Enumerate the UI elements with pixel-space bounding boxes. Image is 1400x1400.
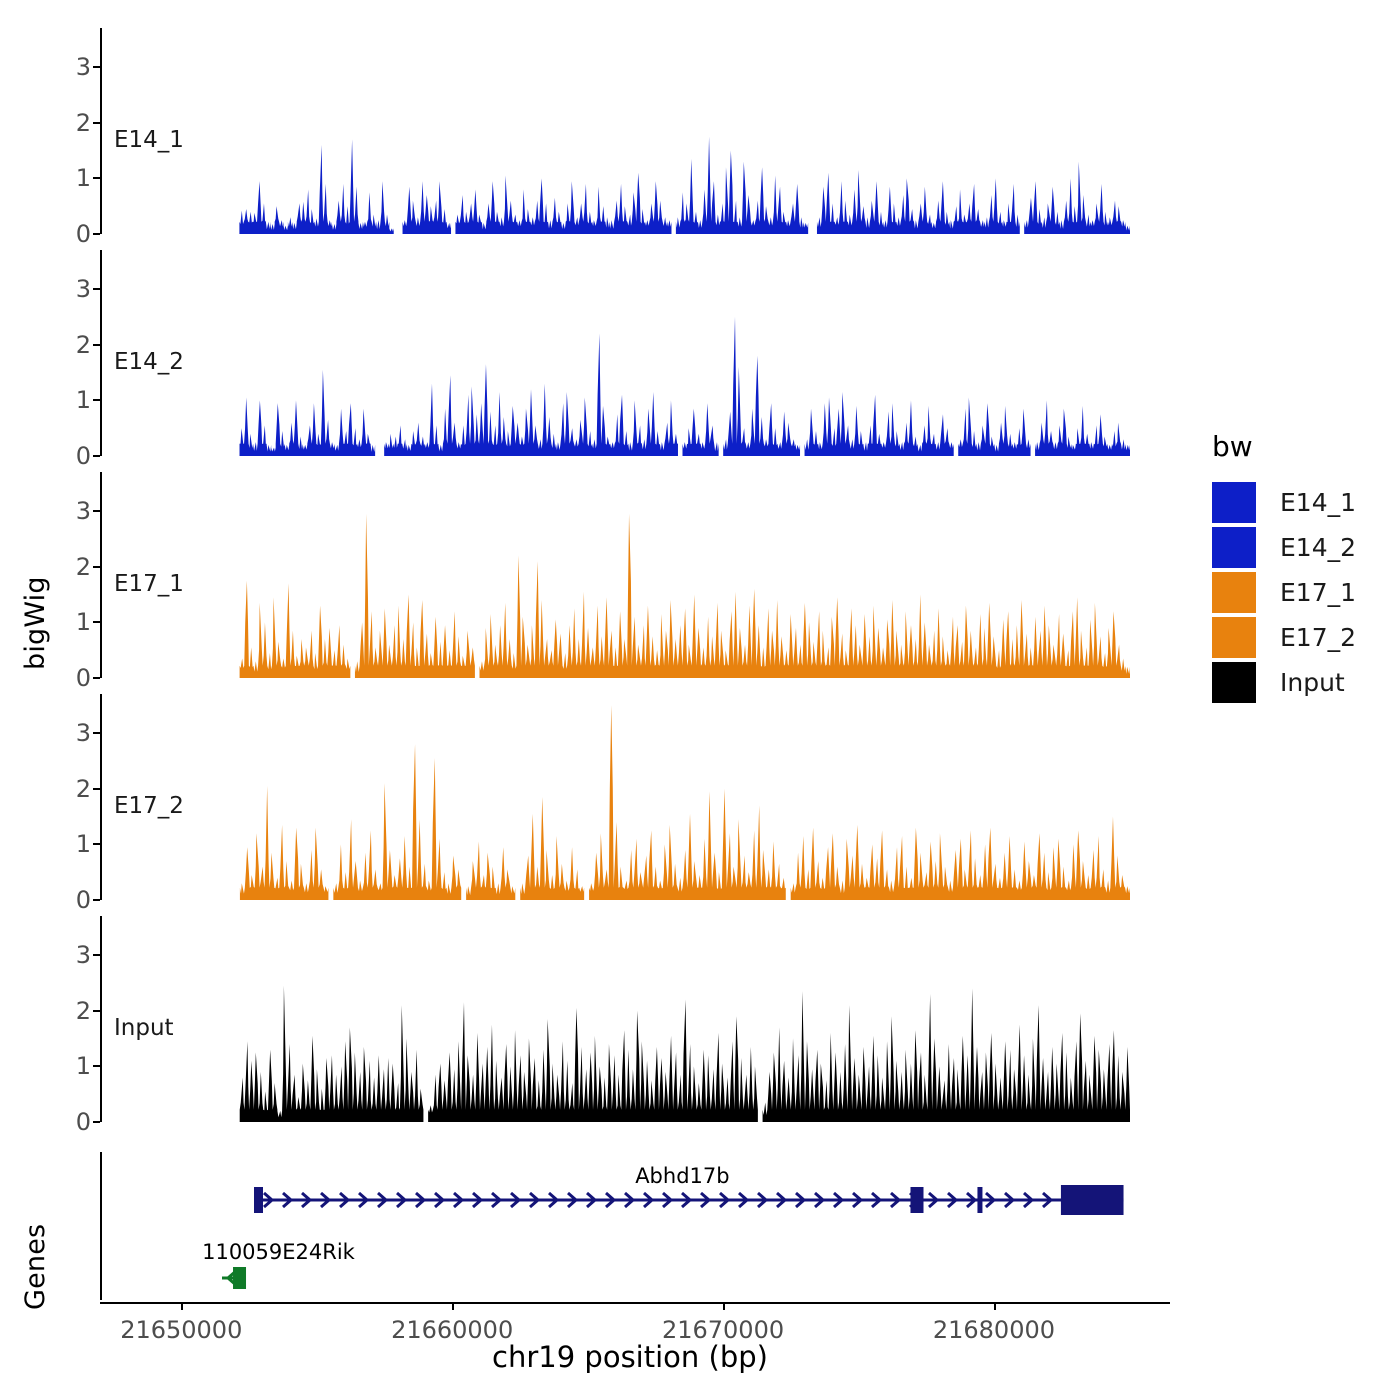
gene-label-110059e24rik: 110059E24Rik: [202, 1240, 355, 1264]
gene-model-110059e24rik[interactable]: [222, 1264, 249, 1294]
y-tick-label: 2: [76, 997, 91, 1025]
y-tick: [93, 843, 100, 845]
y-tick: [93, 1121, 100, 1123]
legend-swatch-icon: [1212, 527, 1256, 568]
x-tick: [452, 1302, 454, 1310]
y-tick-label: 1: [76, 608, 91, 636]
track-panel-input: 0123Input: [100, 916, 1170, 1122]
legend-item-e14_1[interactable]: E14_1: [1212, 481, 1356, 524]
signal-track: [235, 28, 1130, 234]
y-axis-title-genes: Genes: [20, 1160, 51, 1310]
genes-y-axis-line: [100, 1152, 102, 1300]
y-tick-label: 3: [76, 53, 91, 81]
y-tick: [93, 1065, 100, 1067]
y-tick: [93, 510, 100, 512]
x-tick: [181, 1302, 183, 1310]
panel-label-e14_2: E14_2: [114, 349, 184, 375]
y-tick: [93, 66, 100, 68]
legend-item-label: Input: [1280, 668, 1345, 697]
legend-swatch-icon: [1212, 572, 1256, 613]
panel-label-input: Input: [114, 1015, 174, 1041]
y-tick: [93, 399, 100, 401]
y-tick: [93, 788, 100, 790]
legend-item-input[interactable]: Input: [1212, 661, 1356, 704]
genes-panel: Abhd17b110059E24Rik: [100, 1152, 1170, 1300]
y-tick-label: 0: [76, 886, 91, 914]
legend-item-e17_2[interactable]: E17_2: [1212, 616, 1356, 659]
y-tick-label: 2: [76, 331, 91, 359]
y-tick-label: 2: [76, 109, 91, 137]
track-panel-e14_1: 0123E14_1: [100, 28, 1170, 234]
panel-label-e14_1: E14_1: [114, 127, 184, 153]
y-tick: [93, 732, 100, 734]
y-tick-label: 1: [76, 1052, 91, 1080]
track-panel-e17_1: 0123E17_1: [100, 472, 1170, 678]
y-tick: [93, 677, 100, 679]
y-tick-label: 2: [76, 775, 91, 803]
y-tick-label: 0: [76, 1108, 91, 1136]
y-tick-label: 0: [76, 442, 91, 470]
gene-label-abhd17b: Abhd17b: [635, 1164, 729, 1188]
y-tick: [93, 1010, 100, 1012]
panel-y-axis-line: [100, 28, 102, 234]
y-tick-label: 3: [76, 497, 91, 525]
y-tick: [93, 566, 100, 568]
y-tick-label: 1: [76, 830, 91, 858]
y-tick: [93, 122, 100, 124]
y-tick-label: 0: [76, 220, 91, 248]
signal-track: [235, 694, 1130, 900]
x-tick: [723, 1302, 725, 1310]
x-tick: [994, 1302, 996, 1310]
legend-swatch-icon: [1212, 662, 1256, 703]
y-tick-label: 1: [76, 386, 91, 414]
y-tick: [93, 954, 100, 956]
signal-track: [235, 472, 1130, 678]
panel-y-axis-line: [100, 916, 102, 1122]
legend-item-e17_1[interactable]: E17_1: [1212, 571, 1356, 614]
y-tick: [93, 177, 100, 179]
y-tick-label: 3: [76, 719, 91, 747]
legend-swatch-icon: [1212, 617, 1256, 658]
y-tick-label: 2: [76, 553, 91, 581]
legend-item-label: E14_1: [1280, 488, 1356, 517]
panel-y-axis-line: [100, 472, 102, 678]
legend-item-label: E17_1: [1280, 578, 1356, 607]
panel-y-axis-line: [100, 694, 102, 900]
y-axis-title-bigwig: bigWig: [20, 470, 51, 670]
legend-item-label: E14_2: [1280, 533, 1356, 562]
y-tick: [93, 621, 100, 623]
panel-label-e17_1: E17_1: [114, 571, 184, 597]
legend-title: bw: [1212, 430, 1356, 463]
y-tick-label: 3: [76, 941, 91, 969]
legend-swatch-icon: [1212, 482, 1256, 523]
y-tick-label: 3: [76, 275, 91, 303]
track-panel-e17_2: 0123E17_2: [100, 694, 1170, 900]
y-tick: [93, 288, 100, 290]
x-axis-line: [100, 1302, 1170, 1304]
legend-items: E14_1E14_2E17_1E17_2Input: [1212, 481, 1356, 704]
y-tick-label: 1: [76, 164, 91, 192]
legend-item-e14_2[interactable]: E14_2: [1212, 526, 1356, 569]
y-tick: [93, 233, 100, 235]
y-tick: [93, 344, 100, 346]
signal-track: [235, 916, 1130, 1122]
y-tick: [93, 899, 100, 901]
x-axis-title: chr19 position (bp): [80, 1340, 1180, 1374]
panel-y-axis-line: [100, 250, 102, 456]
panel-label-e17_2: E17_2: [114, 793, 184, 819]
y-tick: [93, 455, 100, 457]
y-tick-label: 0: [76, 664, 91, 692]
signal-track: [235, 250, 1130, 456]
track-panel-e14_2: 0123E14_2: [100, 250, 1170, 456]
legend: bw E14_1E14_2E17_1E17_2Input: [1212, 430, 1356, 706]
legend-item-label: E17_2: [1280, 623, 1356, 652]
